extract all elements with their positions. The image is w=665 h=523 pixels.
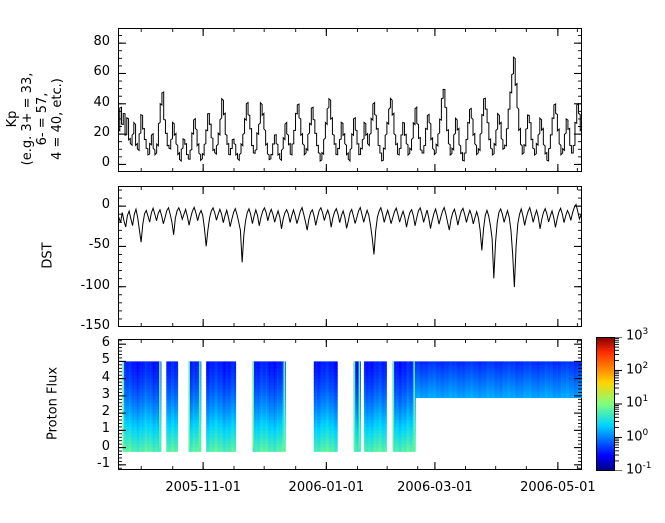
proton-flux-cell [234, 448, 236, 452]
dst-trace [119, 204, 581, 287]
proton-flux-cell [176, 448, 178, 452]
proton-flux-cell [359, 361, 361, 447]
proton-flux-cell [123, 361, 125, 447]
proton-flux-cell [393, 361, 395, 447]
proton-flux-cell [359, 448, 361, 452]
kp-ytick-label: 40 [70, 95, 110, 110]
dst-plot [118, 186, 582, 327]
proton-flux-cell [159, 448, 161, 452]
kp-ytick-label: 20 [70, 125, 110, 140]
dst-ytick-label: 0 [70, 197, 110, 212]
dst-ytick-label: -100 [70, 278, 110, 293]
proton-flux-cell [413, 448, 415, 452]
proton-flux-cell [413, 361, 415, 447]
proton-flux-cell [283, 448, 285, 452]
kp-ytick-label: 80 [70, 34, 110, 49]
proton-flux-cell [335, 448, 337, 452]
proton-flux-cell [199, 361, 201, 447]
kp-trace [118, 57, 582, 161]
dst-axis-label: DST [41, 195, 56, 315]
proton-flux-cell [253, 361, 255, 447]
proton-flux-cell [189, 361, 191, 447]
spaceweather-figure: 020406080Kp (e.g. 3+ = 33, 6- = 57, 4 = … [0, 0, 665, 523]
proton-heatmap [118, 339, 582, 470]
kp-plot [118, 28, 582, 172]
kp-ytick-label: 60 [70, 64, 110, 79]
dst-ytick-label: -150 [70, 318, 110, 333]
kp-ytick-label: 0 [70, 155, 110, 170]
proton-flux-cell [199, 448, 201, 452]
proton-flux-cell [354, 361, 356, 447]
proton-flux-cell [385, 448, 387, 452]
proton-flux-cell [159, 361, 161, 447]
kp-axis-label: Kp (e.g. 3+ = 33, 6- = 57, 4 = 40, etc.) [5, 39, 65, 199]
dst-ytick-label: -50 [70, 237, 110, 252]
proton-flux-cell [283, 361, 285, 447]
